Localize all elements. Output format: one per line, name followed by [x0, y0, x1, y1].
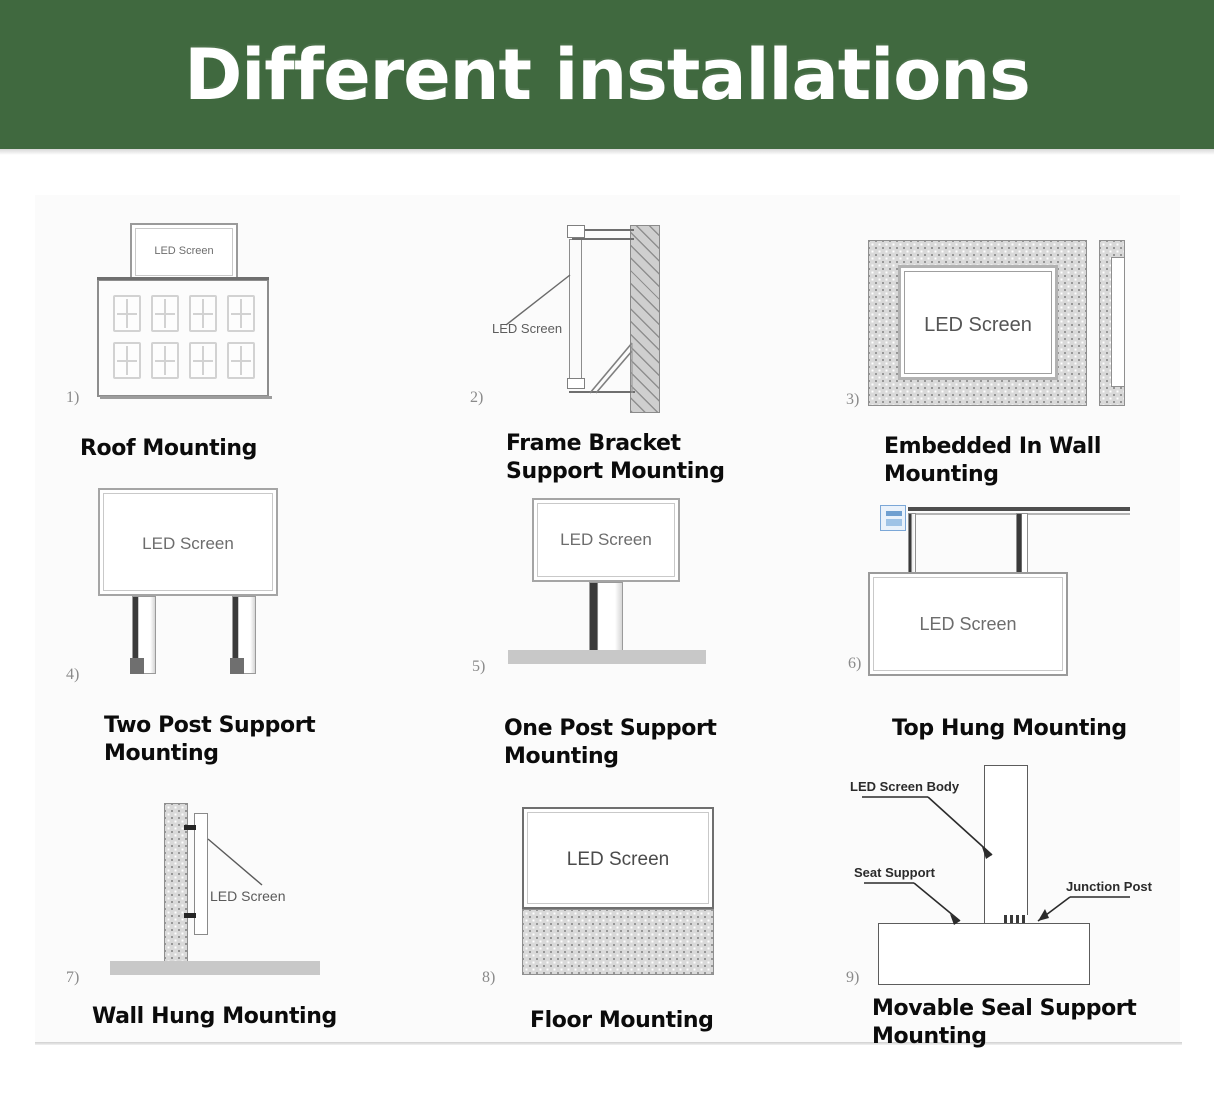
figure-number: 1) [66, 389, 79, 407]
top-bracket-block [567, 225, 585, 238]
figure-number: 3) [846, 391, 859, 409]
led-screen-body-leader-line [858, 791, 1018, 871]
led-screen-panel: LED Screen [522, 807, 714, 909]
building-window [151, 295, 179, 332]
figure-cell-embedded-in-wall-mounting: LED Screen 3) Embedded In Wall Mounting [840, 195, 1210, 485]
figure-number: 8) [482, 969, 495, 987]
figure-number: 4) [66, 666, 79, 684]
building-window-grid [113, 295, 255, 379]
led-screen-panel: LED Screen [898, 265, 1058, 380]
figure-floor-mounting-drawing: LED Screen 8) [460, 785, 820, 990]
building-roof-edge [97, 277, 269, 280]
figure-caption: Two Post Support Mounting [104, 712, 424, 768]
figure-cell-frame-bracket-support-mounting: LED Screen 2) Frame Bracket Support Moun… [460, 195, 820, 485]
junction-post-bolts [1004, 915, 1028, 923]
floor-base-block [522, 909, 714, 975]
led-screen-label: LED Screen [524, 849, 712, 871]
led-screen-label: LED Screen [870, 614, 1066, 635]
figure-caption: Frame Bracket Support Mounting [506, 430, 826, 486]
led-screen-label: LED Screen [901, 314, 1055, 337]
figure-caption: Floor Mounting [530, 1007, 850, 1035]
side-profile-screen-slot [1111, 257, 1125, 387]
building-window [113, 295, 141, 332]
building-window [227, 342, 255, 379]
hanger-left [908, 513, 916, 575]
installation-figure-grid: LED Screen 1) Roof Mounting [0, 195, 1214, 1075]
figure-cell-top-hung-mounting: LED Screen 6) Top Hung Mounting [840, 480, 1210, 780]
figure-number: 2) [470, 389, 483, 407]
led-screen-label: LED Screen [492, 321, 562, 336]
figure-wall-hung-drawing: LED Screen 7) [60, 785, 420, 990]
figure-number: 6) [848, 655, 861, 673]
figure-caption: Top Hung Mounting [892, 715, 1214, 743]
figure-caption: Movable Seal Support Mounting [872, 995, 1202, 1051]
figure-number: 7) [66, 969, 79, 987]
hanger-right [1016, 513, 1028, 575]
building-window [113, 342, 141, 379]
figure-one-post-drawing: LED Screen 5) [460, 480, 820, 700]
header-banner: Different installations [0, 0, 1214, 149]
overhead-beam [908, 507, 1130, 511]
figure-movable-seal-drawing: LED Screen Body Seat Support Junction Po… [840, 755, 1210, 995]
figure-two-post-drawing: LED Screen 4) [60, 480, 420, 700]
led-screen-label: LED Screen [534, 530, 678, 550]
ground-slab [508, 650, 706, 664]
led-screen-panel: LED Screen [130, 223, 238, 281]
seat-support-leader-line [860, 877, 990, 935]
building-window [189, 342, 217, 379]
figure-cell-floor-mounting: LED Screen 8) Floor Mounting [460, 785, 820, 1075]
figure-embedded-wall-drawing: LED Screen 3) [840, 195, 1210, 420]
figure-caption: Wall Hung Mounting [92, 1003, 432, 1031]
building-window [189, 295, 217, 332]
figure-caption: Roof Mounting [80, 435, 400, 463]
broken-image-icon [880, 505, 906, 531]
led-screen-panel: LED Screen [868, 572, 1068, 676]
figure-number: 9) [846, 969, 859, 987]
led-screen-label: LED Screen [132, 245, 236, 257]
post-base-left [130, 658, 144, 674]
building-window [227, 295, 255, 332]
figure-cell-one-post-support-mounting: LED Screen 5) One Post Support Mounting [460, 480, 820, 780]
figure-roof-mounting-drawing: LED Screen 1) [60, 195, 420, 420]
figure-number: 5) [472, 658, 485, 676]
building-window [151, 342, 179, 379]
header-underline [0, 149, 1214, 155]
support-post-center [589, 582, 623, 654]
led-screen-label: LED Screen [210, 888, 285, 904]
led-screen-panel: LED Screen [532, 498, 680, 582]
ground-slab [110, 961, 320, 975]
figure-top-hung-drawing: LED Screen 6) [840, 480, 1210, 700]
figure-cell-two-post-support-mounting: LED Screen 4) Two Post Support Mounting [60, 480, 420, 780]
figure-cell-roof-mounting: LED Screen 1) Roof Mounting [60, 195, 420, 485]
led-screen-label: LED Screen [100, 534, 276, 554]
figure-caption: One Post Support Mounting [504, 715, 824, 771]
led-screen-leader-line [206, 837, 272, 893]
post-base-right [230, 658, 244, 674]
figure-cell-movable-seal-support-mounting: Movable Seal Support Mounting LED Screen… [840, 755, 1210, 1075]
figure-cell-wall-hung-mounting: LED Screen 7) Wall Hung Mounting [60, 785, 420, 1075]
page-title: Different installations [184, 40, 1030, 110]
mount-bracket-top [184, 825, 196, 830]
top-bracket-arm-lower [572, 238, 634, 240]
junction-post-leader-line [1026, 891, 1136, 931]
mount-bracket-bottom [184, 913, 196, 918]
figure-frame-bracket-drawing: LED Screen 2) [460, 195, 820, 420]
led-screen-panel: LED Screen [98, 488, 278, 596]
building-base-shadow [100, 396, 272, 399]
